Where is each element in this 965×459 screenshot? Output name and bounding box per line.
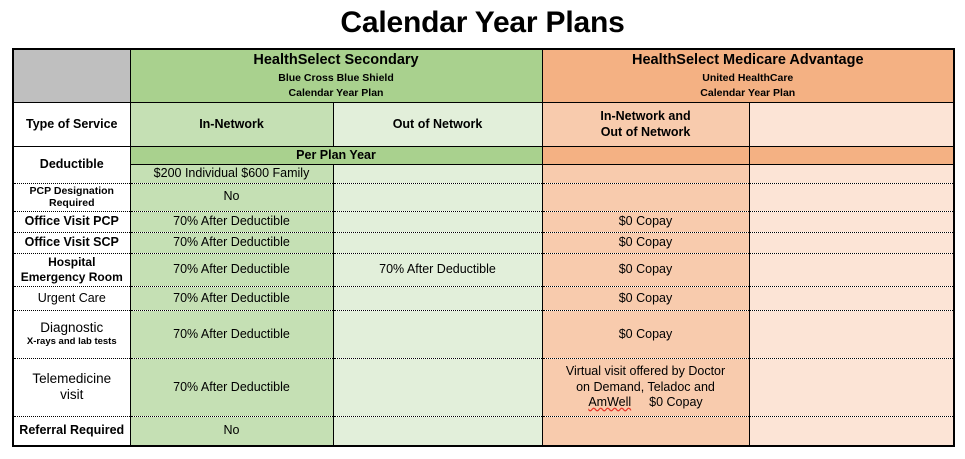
deductible-medicare (542, 165, 749, 183)
row-label-referral-required: Referral Required (13, 416, 130, 446)
cell-out-of-network (333, 183, 542, 211)
cell-in-network: 70% After Deductible (130, 310, 333, 358)
row-label-line2: Required (17, 197, 127, 210)
cell-medicare-blank (749, 232, 954, 253)
cell-in-network: 70% After Deductible (130, 211, 333, 232)
cell-in-network: 70% After Deductible (130, 358, 333, 416)
cell-medicare-blank (749, 183, 954, 211)
plan-header-row: HealthSelect Secondary Blue Cross Blue S… (13, 49, 954, 103)
table-row: Office Visit PCP 70% After Deductible $0… (13, 211, 954, 232)
cell-in-network: No (130, 416, 333, 446)
cell-medicare: $0 Copay (542, 232, 749, 253)
cell-medicare-telemedicine: Virtual visit offered by Doctor on Deman… (542, 358, 749, 416)
telemedicine-line3: AmWell$0 Copay (546, 395, 746, 410)
row-label-line2: Emergency Room (17, 270, 127, 285)
telemedicine-line2: on Demand, Teladoc and (546, 380, 746, 395)
medicare-per-plan-year-blank (749, 147, 954, 165)
cell-out-of-network (333, 416, 542, 446)
plan-header-medicare: HealthSelect Medicare Advantage United H… (542, 49, 954, 103)
label-deductible: Deductible (13, 147, 130, 184)
row-label-line2: visit (17, 387, 127, 403)
cell-medicare-blank (749, 310, 954, 358)
header-type-of-service: Type of Service (13, 103, 130, 147)
corner-cell (13, 49, 130, 103)
row-label-telemedicine-visit: Telemedicine visit (13, 358, 130, 416)
row-label-urgent-care: Urgent Care (13, 286, 130, 310)
per-plan-year-row: Deductible Per Plan Year (13, 147, 954, 165)
cell-medicare: $0 Copay (542, 211, 749, 232)
row-label-pcp-designation: PCP Designation Required (13, 183, 130, 211)
row-label-line1: Diagnostic (17, 320, 127, 336)
cell-out-of-network (333, 310, 542, 358)
deductible-amount-row: $200 Individual $600 Family (13, 165, 954, 183)
cell-in-network: 70% After Deductible (130, 253, 333, 286)
calendar-year-plans-table: HealthSelect Secondary Blue Cross Blue S… (12, 48, 955, 447)
table-row: Hospital Emergency Room 70% After Deduct… (13, 253, 954, 286)
plan-type-medicare: Calendar Year Plan (546, 86, 951, 101)
network-header-row: Type of Service In-Network Out of Networ… (13, 103, 954, 147)
cell-medicare: $0 Copay (542, 253, 749, 286)
cell-medicare-blank (749, 416, 954, 446)
page-title: Calendar Year Plans (0, 0, 965, 43)
row-label-office-visit-pcp: Office Visit PCP (13, 211, 130, 232)
header-medicare-line1: In-Network and (546, 109, 746, 124)
row-label-line1: Telemedicine (17, 371, 127, 387)
row-label-note: X-rays and lab tests (17, 337, 127, 348)
plan-header-secondary: HealthSelect Secondary Blue Cross Blue S… (130, 49, 542, 103)
plan-type-secondary: Calendar Year Plan (134, 86, 539, 101)
cell-medicare-blank (749, 253, 954, 286)
plan-name-medicare: HealthSelect Medicare Advantage (546, 51, 951, 71)
cell-medicare: $0 Copay (542, 310, 749, 358)
cell-in-network: No (130, 183, 333, 211)
plan-name-secondary: HealthSelect Secondary (134, 51, 539, 71)
cell-out-of-network (333, 232, 542, 253)
table-row: PCP Designation Required No (13, 183, 954, 211)
cell-medicare (542, 183, 749, 211)
header-medicare-blank (749, 103, 954, 147)
table-row: Office Visit SCP 70% After Deductible $0… (13, 232, 954, 253)
cell-out-of-network: 70% After Deductible (333, 253, 542, 286)
header-medicare-line2: Out of Network (546, 125, 746, 140)
plans-table-container: HealthSelect Secondary Blue Cross Blue S… (12, 48, 953, 447)
telemedicine-copay: $0 Copay (649, 395, 703, 409)
plan-carrier-medicare: United HealthCare (546, 71, 951, 86)
cell-out-of-network (333, 211, 542, 232)
cell-medicare-blank (749, 211, 954, 232)
cell-in-network: 70% After Deductible (130, 286, 333, 310)
row-label-hospital-emergency-room: Hospital Emergency Room (13, 253, 130, 286)
cell-medicare: $0 Copay (542, 286, 749, 310)
medicare-per-plan-year (542, 147, 749, 165)
cell-out-of-network (333, 286, 542, 310)
deductible-secondary-in-network: $200 Individual $600 Family (130, 165, 333, 183)
table-row: Diagnostic X-rays and lab tests 70% Afte… (13, 310, 954, 358)
table-row: Telemedicine visit 70% After Deductible … (13, 358, 954, 416)
cell-medicare (542, 416, 749, 446)
row-label-office-visit-scp: Office Visit SCP (13, 232, 130, 253)
cell-medicare-blank (749, 358, 954, 416)
plan-carrier-secondary: Blue Cross Blue Shield (134, 71, 539, 86)
telemedicine-amwell: AmWell (588, 395, 631, 409)
deductible-medicare-blank (749, 165, 954, 183)
cell-in-network: 70% After Deductible (130, 232, 333, 253)
header-secondary-out-of-network: Out of Network (333, 103, 542, 147)
header-secondary-in-network: In-Network (130, 103, 333, 147)
table-row: Referral Required No (13, 416, 954, 446)
cell-out-of-network (333, 358, 542, 416)
telemedicine-line1: Virtual visit offered by Doctor (546, 364, 746, 379)
table-row: Urgent Care 70% After Deductible $0 Copa… (13, 286, 954, 310)
row-label-line1: PCP Designation (17, 185, 127, 198)
deductible-secondary-out-of-network (333, 165, 542, 183)
header-medicare-combined: In-Network and Out of Network (542, 103, 749, 147)
per-plan-year-banner: Per Plan Year (130, 147, 542, 165)
row-label-line1: Hospital (17, 255, 127, 270)
row-label-diagnostic: Diagnostic X-rays and lab tests (13, 310, 130, 358)
cell-medicare-blank (749, 286, 954, 310)
